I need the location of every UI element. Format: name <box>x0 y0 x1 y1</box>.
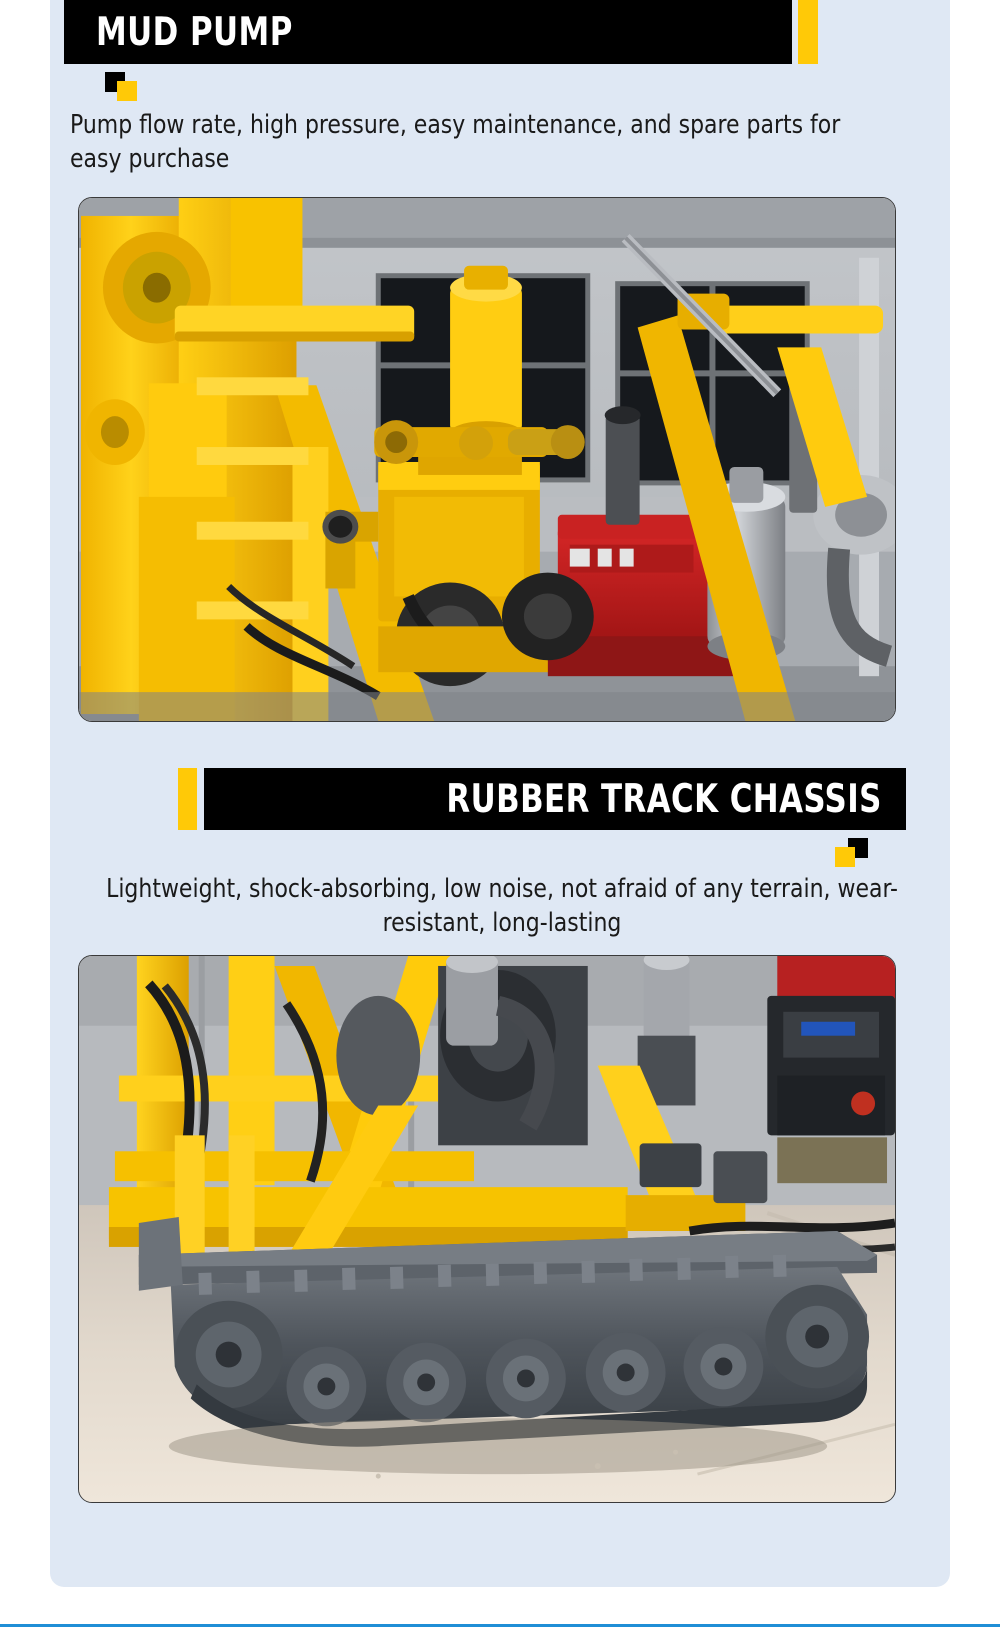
header-accent-bar-yellow-2 <box>178 768 197 830</box>
section-header-rubber-track-chassis: RUBBER TRACK CHASSIS <box>178 768 906 830</box>
product-feature-page: MUD PUMP Pump flow rate, high pressure, … <box>0 0 1000 1630</box>
bottom-rule <box>0 1624 1000 1627</box>
section-header-bar-2: RUBBER TRACK CHASSIS <box>204 768 906 830</box>
section-header-mud-pump: MUD PUMP <box>64 0 818 64</box>
decoration-square-yellow-2 <box>835 847 855 867</box>
section-title-rubber-track-chassis: RUBBER TRACK CHASSIS <box>447 780 882 819</box>
section-description-rubber-track-chassis: Lightweight, shock-absorbing, low noise,… <box>88 872 915 940</box>
photo-rubber-track-chassis <box>78 955 896 1503</box>
section-header-bar: MUD PUMP <box>64 0 792 64</box>
section-title-mud-pump: MUD PUMP <box>96 13 293 52</box>
photo-mud-pump <box>78 197 896 722</box>
decoration-squares-top <box>105 72 141 102</box>
decoration-square-yellow <box>117 81 137 101</box>
decoration-squares-bottom <box>835 838 871 868</box>
section-description-mud-pump: Pump flow rate, high pressure, easy main… <box>70 108 850 176</box>
header-gap-2 <box>197 768 204 830</box>
header-accent-bar-yellow <box>798 0 818 64</box>
